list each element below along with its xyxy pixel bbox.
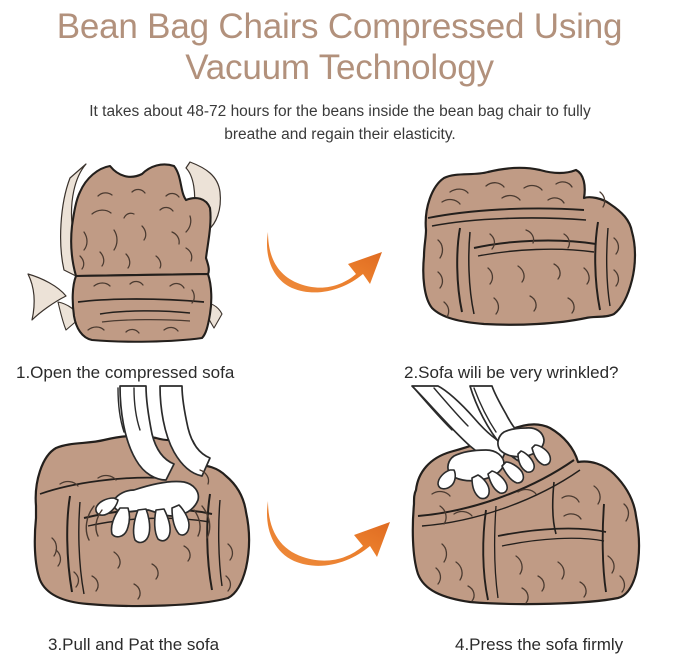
panel-step-4 <box>398 386 663 621</box>
header: Bean Bag Chairs Compressed Using Vacuum … <box>0 0 679 88</box>
panel-step-3 <box>14 386 279 621</box>
panel-step-2 <box>398 152 653 352</box>
page-title-line-2: Vacuum Technology <box>8 47 671 88</box>
page-title-line-1: Bean Bag Chairs Compressed Using <box>8 6 671 47</box>
caption-step-2: 2.Sofa wili be very wrinkled? <box>404 362 618 384</box>
caption-step-1: 1.Open the compressed sofa <box>16 362 234 384</box>
hands-pressing-bean-bag-illustration <box>398 386 663 621</box>
curved-arrow-right-top <box>266 228 384 300</box>
infographic-page: Bean Bag Chairs Compressed Using Vacuum … <box>0 0 679 657</box>
curved-arrow-right-bottom <box>266 495 392 575</box>
caption-step-3: 3.Pull and Pat the sofa <box>48 634 219 656</box>
subtitle: It takes about 48-72 hours for the beans… <box>40 100 640 146</box>
page-title: Bean Bag Chairs Compressed Using Vacuum … <box>0 0 679 88</box>
caption-step-4: 4.Press the sofa firmly <box>455 634 623 656</box>
compressed-bean-bag-illustration <box>14 152 264 352</box>
wrinkled-bean-bag-illustration <box>398 152 653 352</box>
subtitle-line-2: breathe and regain their elasticity. <box>40 123 640 146</box>
panel-step-1 <box>14 152 264 352</box>
subtitle-line-1: It takes about 48-72 hours for the beans… <box>40 100 640 123</box>
hands-patting-bean-bag-illustration <box>14 386 279 621</box>
